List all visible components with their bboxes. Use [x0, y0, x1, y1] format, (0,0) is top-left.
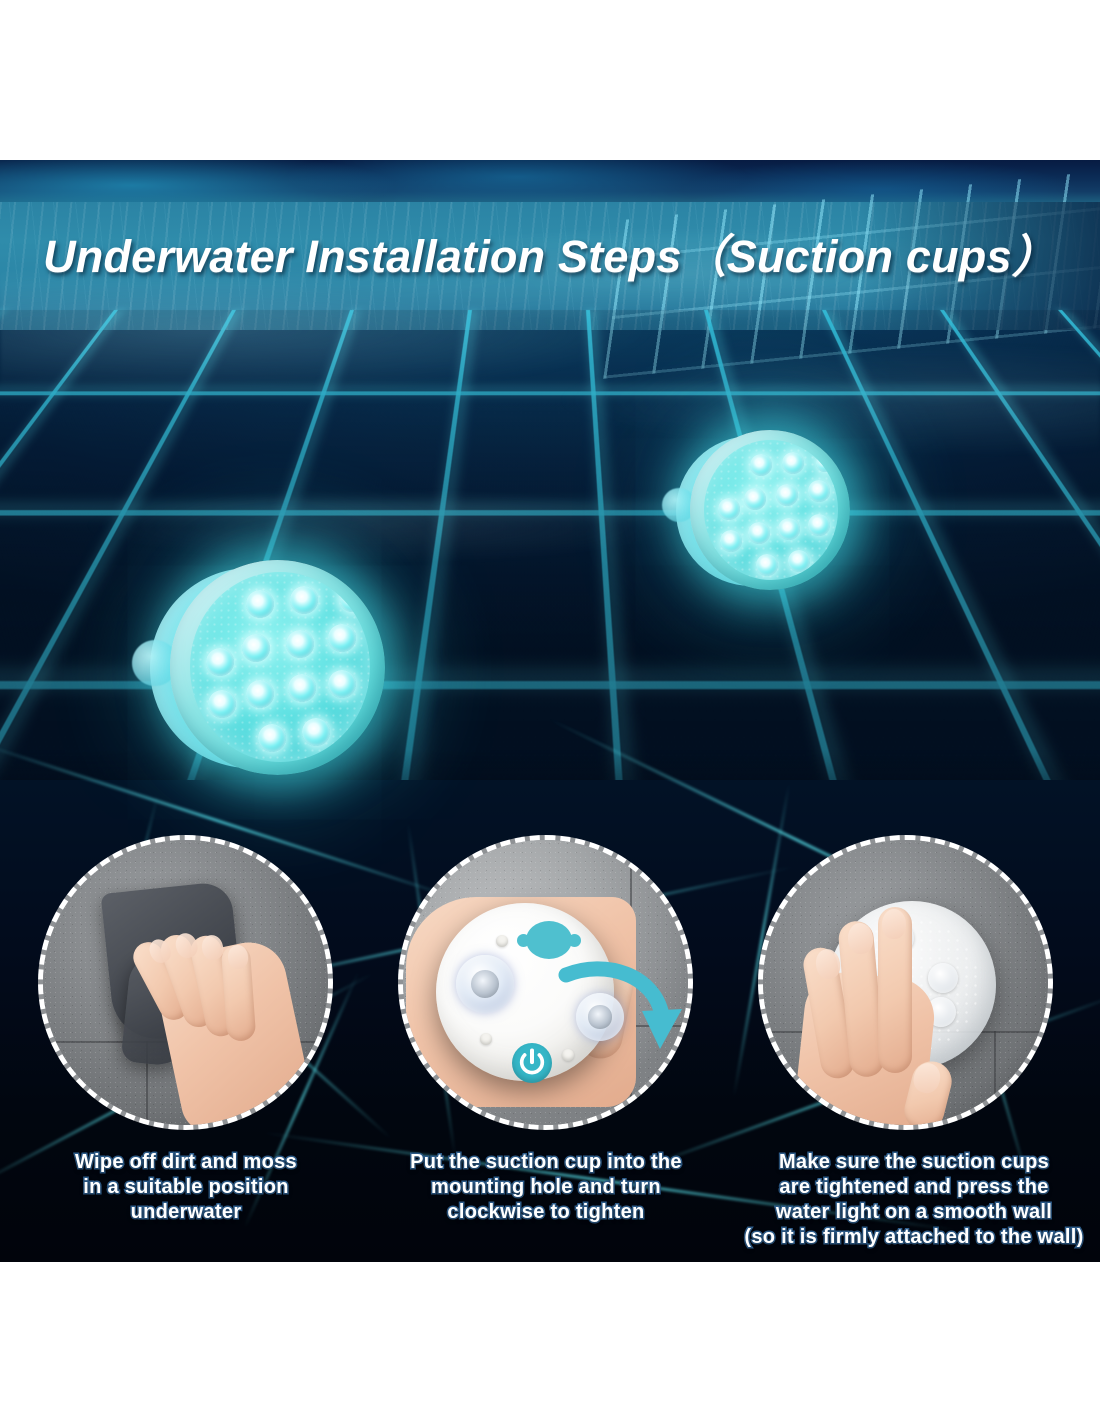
suction-cup-core-a — [471, 970, 499, 998]
suction-cup-mounted — [456, 955, 514, 1013]
step-photo-1 — [38, 835, 333, 1130]
infographic-page: Underwater Installation Steps（Suction cu… — [0, 0, 1100, 1422]
step-1-image — [38, 835, 333, 1130]
step-3-image — [758, 835, 1053, 1130]
artwork-panel: Underwater Installation Steps（Suction cu… — [0, 160, 1100, 1262]
step-3-caption: Make sure the suction cups are tightened… — [742, 1150, 1086, 1250]
wall-seam-v-3 — [994, 1031, 996, 1130]
step-1-caption: Wipe off dirt and moss in a suitable pos… — [28, 1150, 344, 1225]
step-photo-3 — [758, 835, 1053, 1130]
fingernail-3c — [882, 909, 906, 939]
led-face-right — [704, 440, 838, 580]
led-face-left — [190, 572, 370, 762]
led-light-right — [690, 430, 850, 590]
step-2-image — [398, 835, 693, 1130]
power-button[interactable] — [512, 1043, 552, 1083]
housing-bump-a — [496, 935, 508, 947]
housing-bump-b — [480, 1033, 492, 1045]
page-title: Underwater Installation Steps（Suction cu… — [0, 220, 1100, 285]
power-icon — [512, 1043, 552, 1083]
step-photo-2 — [398, 835, 693, 1130]
clockwise-rotation-arrow — [558, 953, 683, 1063]
led-light-left — [170, 560, 385, 775]
step-2-caption: Put the suction cup into the mounting ho… — [384, 1150, 708, 1225]
wall-suction-cup-b — [928, 963, 958, 993]
